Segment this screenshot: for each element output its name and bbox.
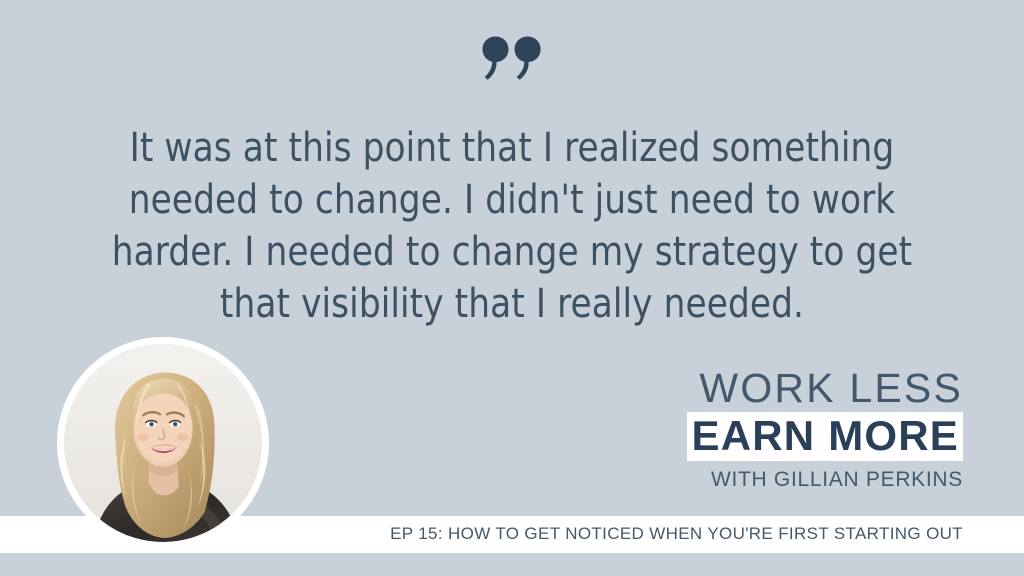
quote-line-2: needed to change. I didn't just need to … bbox=[105, 174, 919, 226]
brand-work-less: WORK LESS bbox=[687, 366, 963, 410]
quote-line-3: harder. I needed to change my strategy t… bbox=[105, 226, 919, 278]
headshot-illustration bbox=[64, 344, 262, 542]
episode-title: EP 15: HOW TO GET NOTICED WHEN YOU'RE FI… bbox=[390, 523, 963, 545]
brand-earn-more: EARN MORE bbox=[687, 412, 963, 461]
bottom-background-strip bbox=[0, 553, 1024, 576]
brand-host-byline: WITH GILLIAN PERKINS bbox=[687, 468, 963, 491]
host-portrait bbox=[57, 337, 269, 549]
quote-line-4: that visibility that I really needed. bbox=[105, 278, 919, 330]
avatar bbox=[64, 344, 262, 542]
quote-card: It was at this point that I realized som… bbox=[0, 0, 1024, 576]
show-branding: WORK LESS EARN MORE WITH GILLIAN PERKINS bbox=[687, 366, 963, 491]
brand-earn-more-wrap: EARN MORE bbox=[687, 412, 963, 461]
quote-text: It was at this point that I realized som… bbox=[105, 122, 919, 330]
closing-double-quote-icon bbox=[482, 36, 542, 82]
quote-line-1: It was at this point that I realized som… bbox=[105, 122, 919, 174]
quote-mark bbox=[0, 36, 1024, 86]
